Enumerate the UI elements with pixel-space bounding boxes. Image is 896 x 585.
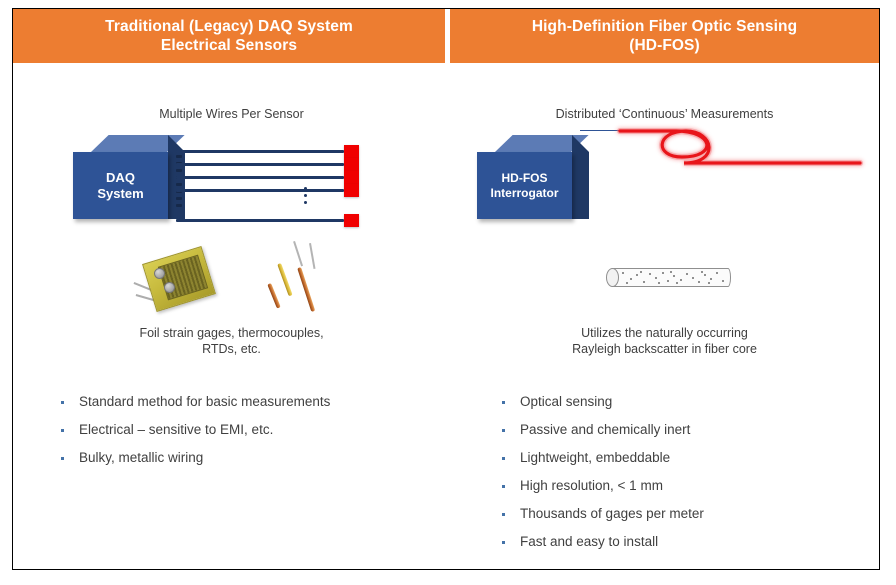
daq-box-front-face: DAQ System	[73, 152, 168, 219]
comparison-slide: Traditional (Legacy) DAQ System Electric…	[12, 8, 880, 570]
fiber-core-end-cap	[606, 268, 619, 287]
bullet-dot-icon	[502, 401, 505, 404]
hdfos-box-side-face	[572, 135, 589, 219]
sensor-terminal-1	[344, 145, 359, 158]
foil-strain-gage-illustration	[131, 246, 236, 318]
sensor-terminal-3	[344, 171, 359, 184]
wires-ellipsis-icon	[304, 187, 308, 208]
daq-label-line2: System	[97, 186, 143, 202]
bullet-dot-icon	[502, 513, 505, 516]
thermocouple-grey-lead-2	[309, 243, 315, 269]
wire-5	[176, 219, 344, 222]
bullet-dot-icon	[502, 429, 505, 432]
header-legacy-line2: Electrical Sensors	[105, 36, 353, 55]
list-item: Thousands of gages per meter	[498, 506, 704, 521]
thermocouple-copper-conductor-2	[297, 267, 315, 312]
hdfos-bullet-2: Passive and chemically inert	[520, 422, 690, 437]
gage-solder-pad-1	[154, 268, 165, 279]
sensor-terminal-5	[344, 214, 359, 227]
hdfos-bullet-1: Optical sensing	[520, 394, 612, 409]
bullet-dot-icon	[502, 457, 505, 460]
header-hdfos-line1: High-Definition Fiber Optic Sensing	[532, 17, 797, 36]
legacy-bullet-2: Electrical – sensitive to EMI, etc.	[79, 422, 273, 437]
hdfos-bullet-4: High resolution, < 1 mm	[520, 478, 663, 493]
hdfos-interrogator-box: HD-FOS Interrogator	[477, 135, 589, 219]
legacy-artwork-caption: Foil strain gages, thermocouples, RTDs, …	[13, 325, 450, 357]
thermocouple-illustration	[259, 241, 339, 321]
hdfos-artwork-caption: Utilizes the naturally occurring Rayleig…	[450, 325, 879, 357]
legacy-caption-line2: RTDs, etc.	[13, 341, 450, 357]
hdfos-caption-line1: Utilizes the naturally occurring	[450, 325, 879, 341]
list-item: Passive and chemically inert	[498, 422, 704, 437]
column-legacy: Multiple Wires Per Sensor DAQ System	[13, 63, 450, 571]
hdfos-bullet-6: Fast and easy to install	[520, 534, 658, 549]
hdfos-box-front-face: HD-FOS Interrogator	[477, 152, 572, 219]
hdfos-label-line2: Interrogator	[490, 186, 558, 201]
sensor-terminal-4	[344, 184, 359, 197]
hdfos-label-line1: HD-FOS	[502, 171, 548, 186]
bullet-dot-icon	[61, 457, 64, 460]
optical-fiber-illustration	[610, 103, 870, 183]
list-item: Electrical – sensitive to EMI, etc.	[57, 422, 330, 437]
list-item: Fast and easy to install	[498, 534, 704, 549]
subtitle-legacy: Multiple Wires Per Sensor	[13, 107, 450, 121]
fiber-glow-path	[620, 131, 860, 163]
bullet-dot-icon	[502, 541, 505, 544]
list-item: Lightweight, embeddable	[498, 450, 704, 465]
fiber-core-path	[620, 131, 860, 163]
hdfos-bullet-3: Lightweight, embeddable	[520, 450, 670, 465]
list-item: Standard method for basic measurements	[57, 394, 330, 409]
thermocouple-yellow-conductor	[277, 263, 292, 296]
list-item: Bulky, metallic wiring	[57, 450, 330, 465]
sensor-terminal-2	[344, 158, 359, 171]
wire-3	[176, 176, 344, 179]
header-hdfos-line2: (HD-FOS)	[532, 36, 797, 55]
list-item: Optical sensing	[498, 394, 704, 409]
bullet-dot-icon	[61, 429, 64, 432]
hdfos-bullet-5: Thousands of gages per meter	[520, 506, 704, 521]
wire-2	[176, 163, 344, 166]
column-hdfos: Distributed ‘Continuous’ Measurements HD…	[450, 63, 879, 571]
sensor-wires-group	[176, 146, 366, 226]
daq-label-line1: DAQ	[106, 170, 135, 186]
gage-solder-pad-2	[164, 282, 175, 293]
legacy-caption-line1: Foil strain gages, thermocouples,	[13, 325, 450, 341]
fiber-core-cylinder-illustration	[605, 266, 735, 290]
daq-device-box: DAQ System	[73, 135, 185, 219]
header-legacy-line1: Traditional (Legacy) DAQ System	[105, 17, 353, 36]
bullet-dot-icon	[502, 485, 505, 488]
hdfos-bullet-list: Optical sensing Passive and chemically i…	[498, 394, 704, 562]
thermocouple-copper-conductor-1	[267, 283, 280, 309]
bullet-dot-icon	[61, 401, 64, 404]
thermocouple-grey-lead-1	[293, 241, 303, 266]
legacy-bullet-3: Bulky, metallic wiring	[79, 450, 203, 465]
hdfos-caption-line2: Rayleigh backscatter in fiber core	[450, 341, 879, 357]
fiber-core-tube	[611, 268, 731, 287]
header-hdfos: High-Definition Fiber Optic Sensing (HD-…	[450, 9, 879, 63]
header-row: Traditional (Legacy) DAQ System Electric…	[13, 9, 879, 63]
wire-1	[176, 150, 344, 153]
header-legacy: Traditional (Legacy) DAQ System Electric…	[13, 9, 445, 63]
legacy-bullet-list: Standard method for basic measurements E…	[57, 394, 330, 478]
legacy-bullet-1: Standard method for basic measurements	[79, 394, 330, 409]
list-item: High resolution, < 1 mm	[498, 478, 704, 493]
wire-4	[176, 189, 344, 192]
